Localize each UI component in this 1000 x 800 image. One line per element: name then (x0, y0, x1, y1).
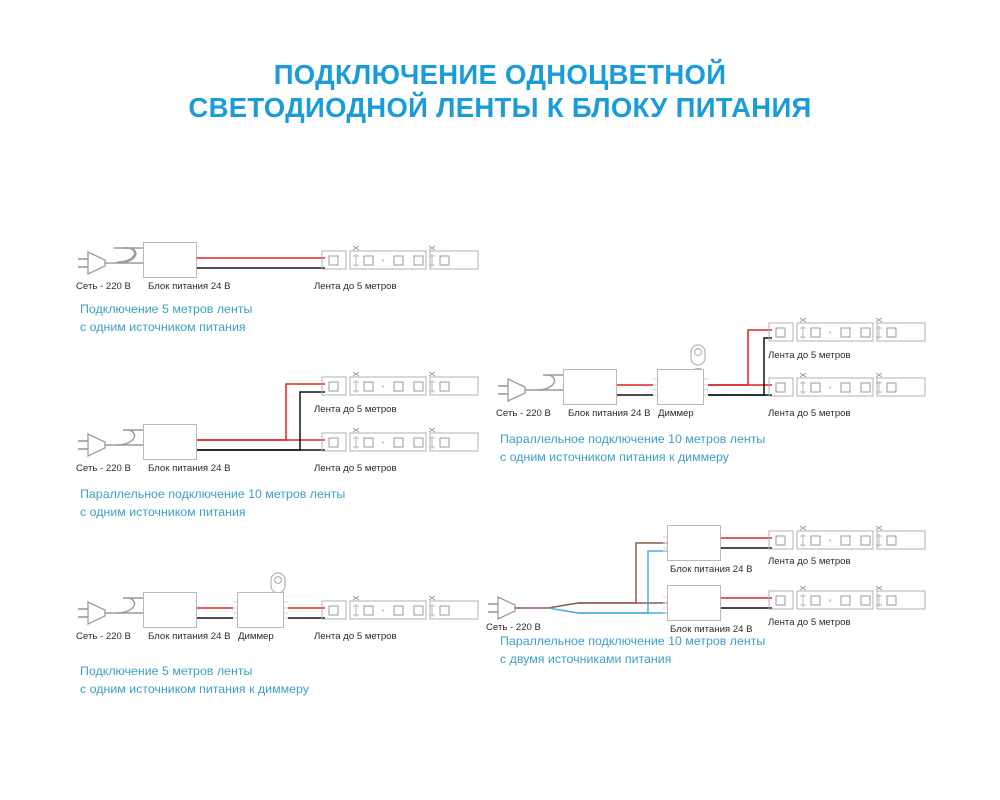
infographic-root: ПОДКЛЮЧЕНИЕ ОДНОЦВЕТНОЙ СВЕТОДИОДНОЙ ЛЕН… (0, 0, 1000, 800)
led-strip-5a (769, 527, 929, 559)
psu-box-top (667, 525, 721, 561)
label-psu-top: Блок питания 24 В (670, 564, 753, 575)
caption-line-1: Параллельное подключение 10 метров ленты (500, 632, 765, 650)
wire-mains-brown-branch (578, 543, 667, 603)
caption-diagram-5: Параллельное подключение 10 метров ленты… (500, 632, 765, 668)
psu-box-bottom (667, 585, 721, 621)
power-plug-icon (488, 597, 515, 619)
caption-line-2: с двумя источниками питания (500, 650, 765, 668)
scissors-cut-icon (800, 526, 882, 530)
led-strip-5b (769, 587, 929, 619)
scissors-cut-icon (800, 586, 882, 590)
